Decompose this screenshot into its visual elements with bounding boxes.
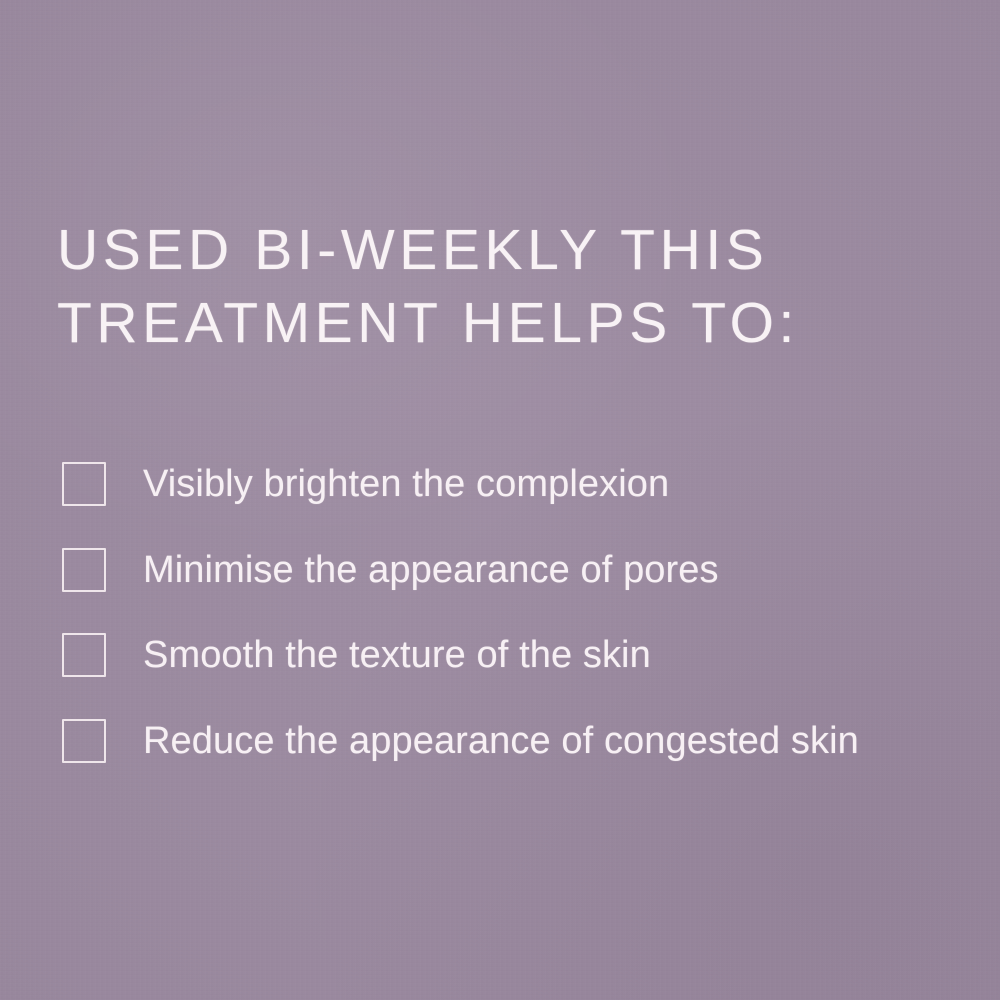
promo-card: Used bi-weekly this treatment helps to: … xyxy=(0,0,1000,1000)
empty-checkbox-icon[interactable] xyxy=(62,719,106,763)
list-item[interactable]: Visibly brighten the complexion xyxy=(62,461,982,507)
list-item-label: Minimise the appearance of pores xyxy=(143,548,719,592)
empty-checkbox-icon[interactable] xyxy=(62,462,106,506)
list-item[interactable]: Smooth the texture of the skin xyxy=(62,632,982,678)
page-title: Used bi-weekly this treatment helps to: xyxy=(57,214,957,360)
list-item[interactable]: Minimise the appearance of pores xyxy=(62,547,982,593)
list-item-label: Smooth the texture of the skin xyxy=(143,633,651,677)
benefits-checklist: Visibly brighten the complexion Minimise… xyxy=(62,461,982,764)
empty-checkbox-icon[interactable] xyxy=(62,548,106,592)
list-item-label: Reduce the appearance of congested skin xyxy=(143,719,859,763)
list-item-label: Visibly brighten the complexion xyxy=(143,462,669,506)
empty-checkbox-icon[interactable] xyxy=(62,633,106,677)
list-item[interactable]: Reduce the appearance of congested skin xyxy=(62,718,982,764)
